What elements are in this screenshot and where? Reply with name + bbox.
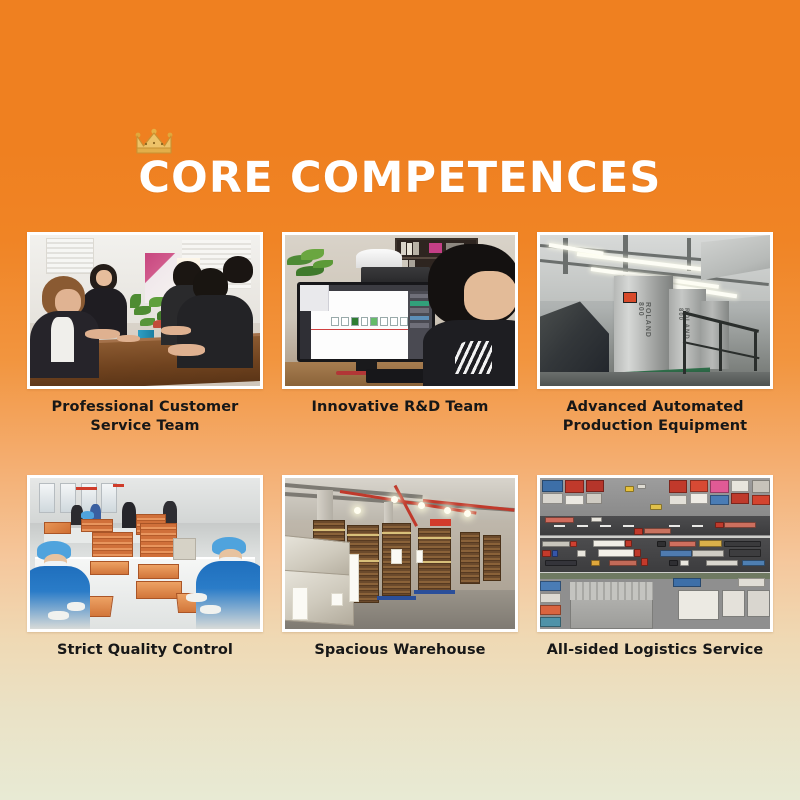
- page-title: CORE COMPETENCES: [138, 150, 661, 206]
- title-wrap: CORE COMPETENCES: [138, 150, 661, 206]
- photo-frame: [27, 475, 263, 632]
- card-caption: All-sided Logistics Service: [537, 641, 773, 660]
- photo-logistics-aerial: [540, 478, 770, 629]
- photo-frame: [282, 232, 518, 389]
- card-professional-customer-service-team[interactable]: Professional Customer Service Team: [27, 232, 263, 436]
- card-caption: Advanced Automated Production Equipment: [537, 398, 773, 436]
- competence-grid: Professional Customer Service Team: [27, 232, 773, 660]
- card-caption: Strict Quality Control: [27, 641, 263, 660]
- card-innovative-rd-team[interactable]: Innovative R&D Team: [282, 232, 518, 436]
- photo-frame: [282, 475, 518, 632]
- photo-frame: ROLAND 800 ROLAND 800: [537, 232, 773, 389]
- page-title-block: CORE COMPETENCES: [0, 150, 800, 220]
- card-caption: Professional Customer Service Team: [27, 398, 263, 436]
- card-strict-quality-control[interactable]: Strict Quality Control: [27, 475, 263, 660]
- competence-row-2: Strict Quality Control: [27, 475, 773, 660]
- photo-warehouse: [285, 478, 515, 629]
- card-spacious-warehouse[interactable]: Spacious Warehouse: [282, 475, 518, 660]
- photo-printing-press: ROLAND 800 ROLAND 800: [540, 235, 770, 386]
- competence-row-1: Professional Customer Service Team: [27, 232, 773, 436]
- photo-rd-designer: [285, 235, 515, 386]
- photo-frame: [27, 232, 263, 389]
- card-all-sided-logistics-service[interactable]: All-sided Logistics Service: [537, 475, 773, 660]
- photo-frame: [537, 475, 773, 632]
- photo-quality-control: [30, 478, 260, 629]
- card-caption: Innovative R&D Team: [282, 398, 518, 417]
- card-caption: Spacious Warehouse: [282, 641, 518, 660]
- photo-meeting: [30, 235, 260, 386]
- card-advanced-automated-production-equipment[interactable]: ROLAND 800 ROLAND 800 A: [537, 232, 773, 436]
